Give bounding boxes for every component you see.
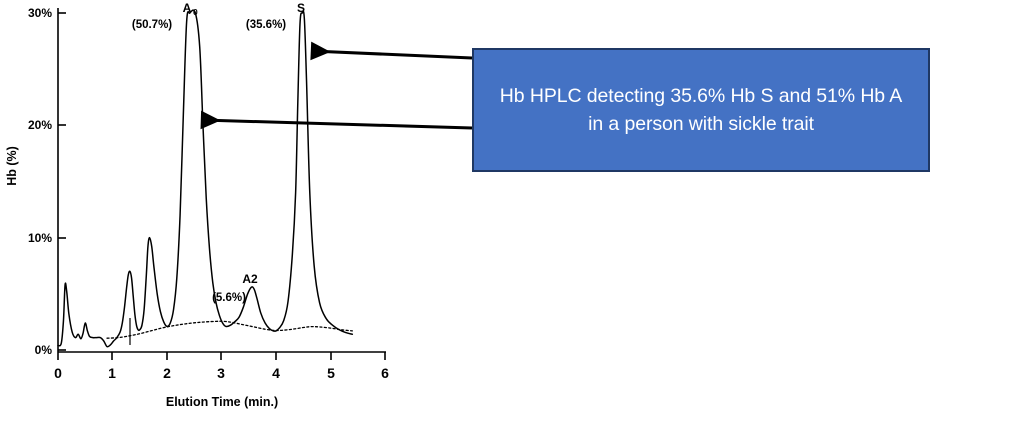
y-tick-label-30: 30% (28, 6, 52, 20)
peak-s-annotation: S (35.6%) (246, 1, 305, 31)
peak-s-percent: (35.6%) (246, 19, 286, 31)
baseline-trace (107, 321, 352, 338)
chromatogram-trace (58, 10, 352, 347)
y-tick-label-0: 0% (35, 343, 53, 357)
callout-text: Hb HPLC detecting 35.6% Hb S and 51% Hb … (492, 82, 910, 139)
x-axis-ticks (58, 352, 385, 360)
x-tick-label-6: 6 (381, 365, 389, 381)
x-tick-label-1: 1 (108, 365, 116, 381)
peak-a2-percent: (5.6%) (212, 292, 246, 304)
y-tick-label-10: 10% (28, 231, 52, 245)
x-tick-label-2: 2 (163, 365, 171, 381)
peak-a0-annotation: A 0 (50.7%) (132, 1, 198, 31)
peak-a0-percent: (50.7%) (132, 19, 172, 31)
callout-box[interactable]: Hb HPLC detecting 35.6% Hb S and 51% Hb … (472, 48, 930, 172)
peak-a2-label: A2 (242, 272, 258, 286)
peak-a0-label: A (183, 1, 192, 15)
hplc-chromatogram-figure: 0% 10% 20% 30% 0 1 2 3 4 5 6 Elution Tim… (0, 0, 420, 425)
x-axis-title: Elution Time (min.) (166, 395, 278, 409)
y-tick-label-20: 20% (28, 118, 52, 132)
y-axis-title: Hb (%) (5, 146, 19, 186)
x-tick-label-5: 5 (327, 365, 335, 381)
chromatogram-svg: 0% 10% 20% 30% 0 1 2 3 4 5 6 Elution Tim… (0, 0, 420, 425)
x-tick-label-3: 3 (217, 365, 225, 381)
x-tick-label-0: 0 (54, 365, 62, 381)
x-tick-label-4: 4 (272, 365, 280, 381)
peak-s-label: S (297, 1, 305, 15)
slide-canvas: 0% 10% 20% 30% 0 1 2 3 4 5 6 Elution Tim… (0, 0, 1025, 446)
peak-a0-label-subscript: 0 (193, 7, 198, 17)
